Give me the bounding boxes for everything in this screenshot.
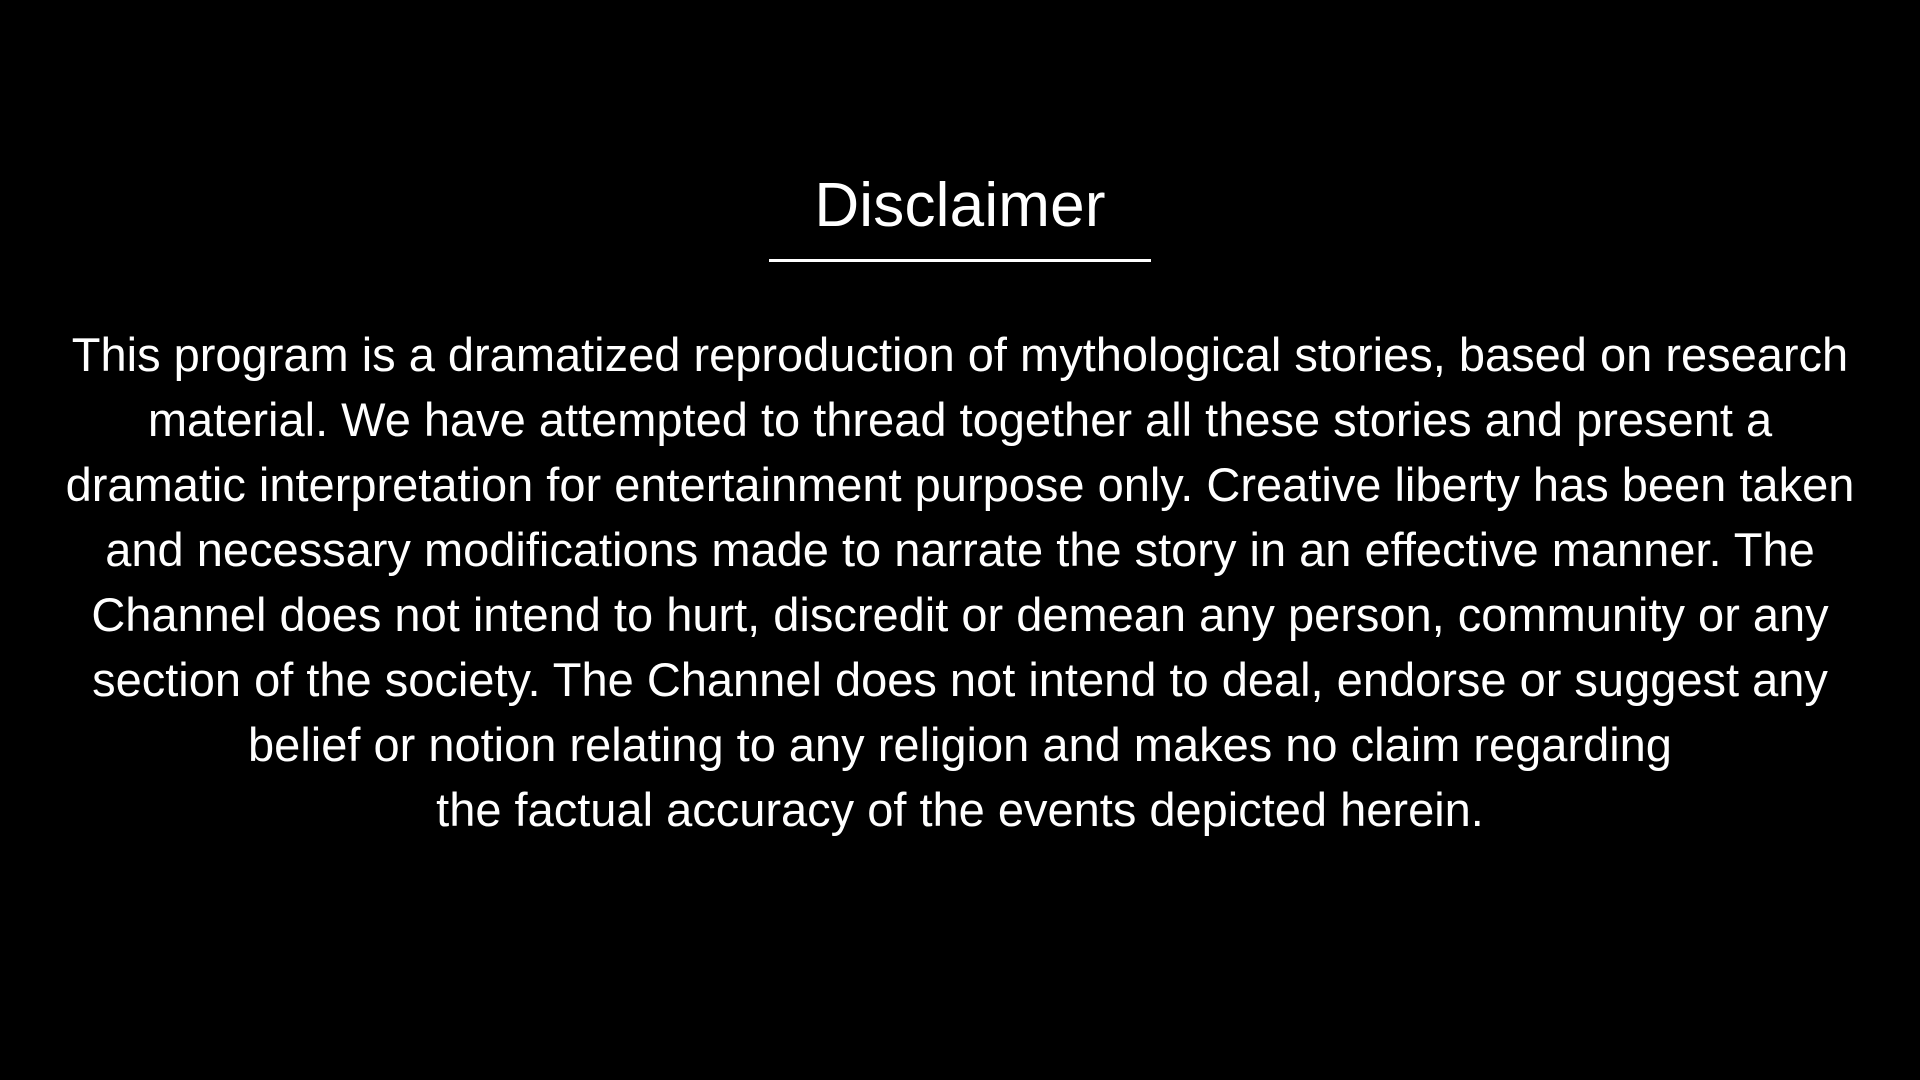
- title-divider: [769, 259, 1151, 262]
- disclaimer-line: This program is a dramatized reproductio…: [72, 322, 1848, 387]
- disclaimer-slide: Disclaimer This program is a dramatized …: [0, 0, 1920, 1080]
- disclaimer-line: the factual accuracy of the events depic…: [436, 777, 1484, 842]
- disclaimer-line: dramatic interpretation for entertainmen…: [66, 452, 1855, 517]
- page-title: Disclaimer: [814, 175, 1105, 237]
- disclaimer-line: section of the society. The Channel does…: [92, 647, 1828, 712]
- disclaimer-text-block: This program is a dramatized reproductio…: [0, 322, 1920, 842]
- disclaimer-line: belief or notion relating to any religio…: [248, 712, 1672, 777]
- disclaimer-line: material. We have attempted to thread to…: [148, 387, 1772, 452]
- disclaimer-line: Channel does not intend to hurt, discred…: [91, 582, 1828, 647]
- disclaimer-line: and necessary modifications made to narr…: [105, 517, 1815, 582]
- title-block: Disclaimer: [0, 175, 1920, 262]
